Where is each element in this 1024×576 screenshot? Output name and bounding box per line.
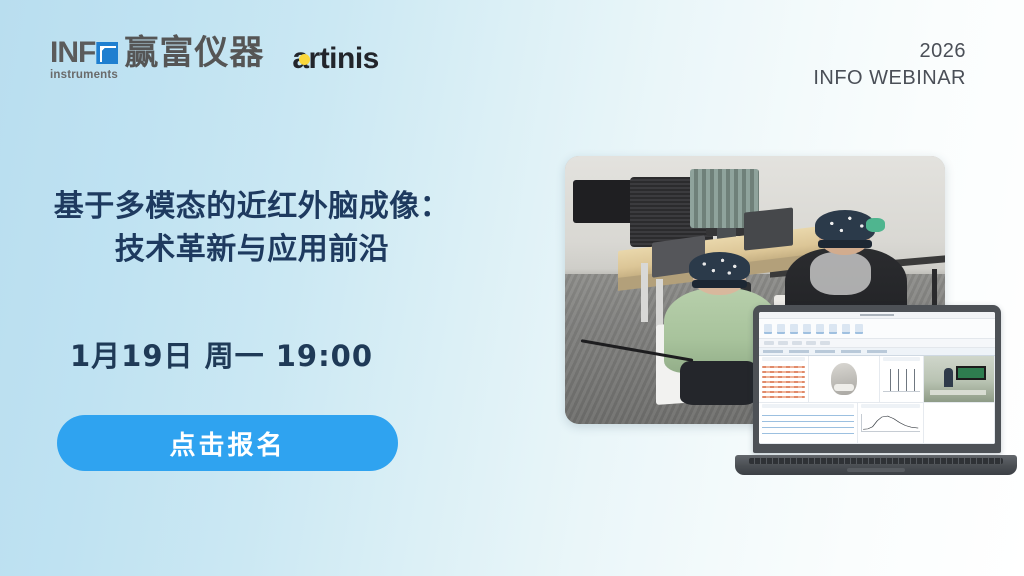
software-titlebar [759,312,995,319]
panel-concentration-header [762,404,854,408]
panel-concentration-traces [759,403,858,443]
tab-item-4[interactable] [841,350,861,353]
software-title-text [860,314,894,316]
ribbon-icon-2[interactable] [777,324,785,334]
concentration-trace [762,415,854,416]
photo-monitor [573,180,634,223]
software-toolbar [759,339,995,348]
signal-trace [762,386,805,388]
ribbon-icon-5[interactable] [816,324,824,334]
info-wordmark: INF [50,38,95,68]
laptop-base [735,455,1017,475]
ribbon-icon-6[interactable] [829,324,837,334]
ribbon-icon-4[interactable] [803,324,811,334]
tab-item-2[interactable] [789,350,809,353]
toolbar-control-4[interactable] [806,341,816,345]
subject-right-green-marker [866,218,885,231]
subject-right-hood [810,252,871,295]
subject-left-goggles [692,280,747,287]
toolbar-control-2[interactable] [778,341,788,345]
signal-trace [762,376,805,378]
toolbar-control-3[interactable] [792,341,802,345]
panel-video-feed [924,356,995,402]
fnirs-cap-icon-left [689,252,751,281]
laptop-keyboard [749,458,1003,464]
artinis-logo: artinis [292,42,379,76]
panel-hemodynamic-header [861,404,921,408]
panel-spike-plot [880,356,925,402]
register-button-label: 点击报名 [169,425,285,462]
signal-trace [762,371,805,373]
concentration-trace [762,433,854,434]
page-title: 基于多模态的近红外脑成像： 技术革新与应用前沿 [52,186,452,271]
artinis-dot-icon [299,54,310,65]
signal-trace [762,366,805,368]
signal-trace [762,391,805,393]
software-row-top [759,356,995,403]
photo-desk-leg-left [641,263,648,322]
subject-right-goggles [818,240,872,248]
info-square-o-icon [96,42,118,64]
video-screen-icon [956,366,985,380]
info-chinese-name: 赢富仪器 [124,36,264,70]
spike-waveform [883,366,921,392]
ribbon-icon-1[interactable] [764,324,772,334]
laptop-mockup [735,305,1017,475]
header-meta: 2026 INFO WEBINAR [813,38,966,92]
software-workspace [759,356,995,444]
info-logo-top: INF 赢富仪器 [50,36,264,70]
laptop-trackpad [847,468,905,472]
laptop-screen [759,312,995,444]
panel-raw-signals [759,356,809,402]
tab-item-5[interactable] [867,350,887,353]
panel-raw-signals-header [762,357,805,361]
signal-trace [762,381,805,383]
panel-hemodynamic-response [858,403,925,443]
concentration-trace [762,421,854,422]
video-person [944,368,953,387]
tab-item-3[interactable] [815,350,835,353]
head-model-3d-icon [831,363,857,395]
panel-video-feed-spacer [924,403,995,443]
title-line-1: 基于多模态的近红外脑成像： [54,189,451,224]
hrf-curve-svg [862,414,921,431]
webinar-poster: INF 赢富仪器 instruments artinis 2026 INFO W… [0,0,1024,576]
software-ribbon [759,319,995,339]
toolbar-control-5[interactable] [820,341,830,345]
tab-item-1[interactable] [763,350,783,353]
concentration-trace [762,427,854,428]
hemodynamic-response-curve [861,414,921,432]
panel-spike-plot-header [883,357,921,361]
laptop-lid [753,305,1001,453]
ribbon-icon-8[interactable] [855,324,863,334]
video-table [930,390,986,395]
info-instruments-logo: INF 赢富仪器 instruments [50,36,264,81]
info-subtitle: instruments [50,69,118,81]
brand-logo-row: INF 赢富仪器 instruments artinis [50,36,379,81]
ribbon-icon-3[interactable] [790,324,798,334]
register-button[interactable]: 点击报名 [57,415,398,471]
raw-signal-traces [762,366,805,398]
concentration-traces [762,415,854,434]
signal-trace [762,396,805,398]
toolbar-control-1[interactable] [764,341,774,345]
webinar-year: 2026 [813,38,966,65]
software-row-bottom [759,403,995,444]
webinar-label: INFO WEBINAR [813,65,966,92]
title-line-2: 技术革新与应用前沿 [52,229,452,272]
ribbon-icon-7[interactable] [842,324,850,334]
panel-head-model [809,356,880,402]
event-datetime: 1月19日 周一 19:00 [70,333,373,375]
video-feed-frame [924,356,994,402]
software-tab-strip [759,348,995,356]
